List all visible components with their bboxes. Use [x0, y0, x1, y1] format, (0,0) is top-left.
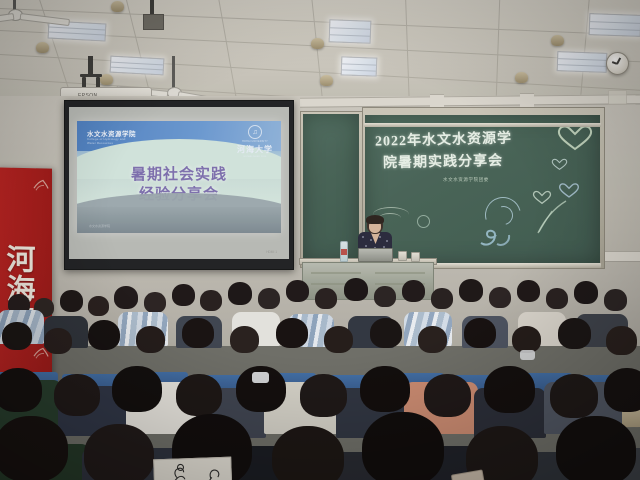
ceiling-speaker — [320, 75, 333, 86]
ceiling-mount-box — [143, 14, 164, 30]
panel-light — [110, 56, 165, 76]
ceiling-speaker — [551, 35, 564, 46]
laptop — [358, 248, 393, 262]
tote-graphic — [154, 458, 232, 480]
panel-light — [329, 19, 372, 43]
university-logo: ♫ HOHAI UNIVERSITY 河海大学 ESTABLISHED 1915 — [237, 125, 273, 158]
blackboard-left-panel — [303, 114, 359, 263]
blackboard-main-panel: 2022年水文水资源学 院暑期实践分享会 水文水资源学院团委 — [365, 115, 600, 264]
face-mask — [252, 372, 269, 383]
presenter-hair — [366, 215, 384, 224]
paper-cup — [398, 251, 407, 261]
slide-title-line1: 暑期社会实践 — [77, 165, 281, 185]
chalk-heart-icon — [558, 181, 580, 199]
panel-light — [341, 56, 378, 76]
chalk-stem — [530, 199, 570, 235]
audience — [0, 276, 640, 480]
ceiling-speaker — [515, 72, 528, 83]
slide-footer-band — [77, 207, 281, 233]
chalk-title-line1: 2022年水文水资源学 — [375, 127, 512, 150]
ceiling-speaker — [36, 42, 49, 53]
chalk-heart-icon — [551, 157, 568, 171]
chalk-signature: 水文水资源学院团委 — [443, 177, 489, 183]
chalk-title-line2: 院暑期实践分享会 — [383, 150, 503, 172]
chalk-rail — [364, 123, 601, 127]
panel-light — [557, 51, 608, 73]
paper-cup — [411, 252, 420, 262]
banner-ornament — [33, 178, 49, 192]
ceiling-speaker — [311, 38, 324, 49]
wall-clock — [606, 52, 629, 75]
water-bottle — [340, 241, 348, 262]
ceiling-speaker — [111, 1, 124, 12]
logo-en-bottom: ESTABLISHED 1915 — [237, 156, 273, 158]
logo-mark-icon: ♫ — [248, 125, 262, 139]
wall-notice — [608, 90, 627, 105]
chalk-circle — [417, 215, 430, 228]
printed-tote-bag — [153, 457, 233, 480]
face-mask — [520, 350, 535, 360]
logo-cn: 河海大学 — [237, 144, 273, 155]
slide-footer-text: 水文水资源学院 — [89, 224, 110, 228]
projection-screen: 水文水资源学院 College of Hydrology and Water R… — [64, 100, 294, 270]
screen-input-label: HDMI 1 — [266, 250, 277, 254]
lecture-hall-photo: EPSON 水文水资源学院 College of Hydrology and W… — [0, 0, 640, 480]
slide-org-subtitle: College of Hydrology and Water Resources — [87, 137, 126, 145]
panel-light — [589, 13, 640, 37]
chalk-heart-icon — [556, 123, 594, 151]
logo-en-top: HOHAI UNIVERSITY — [237, 140, 273, 143]
presentation-slide: 水文水资源学院 College of Hydrology and Water R… — [77, 121, 281, 233]
screen-surface: 水文水资源学院 College of Hydrology and Water R… — [69, 107, 289, 259]
chalk-spiral — [477, 217, 513, 247]
